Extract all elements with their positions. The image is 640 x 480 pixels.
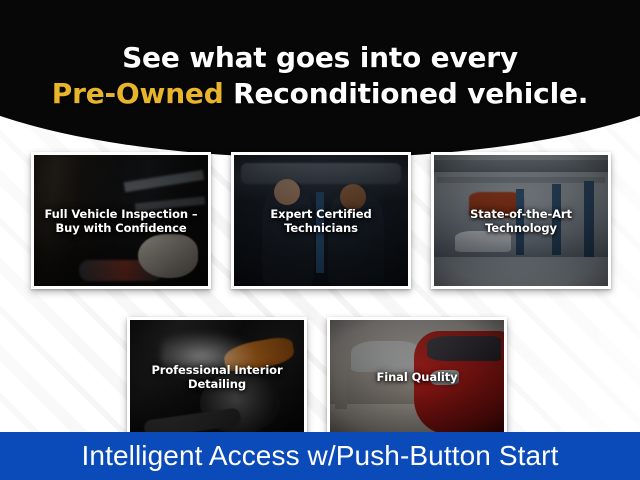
headline-line-2: Pre-Owned Reconditioned vehicle. — [0, 76, 640, 112]
footer-banner: Intelligent Access w/Push-Button Start — [0, 432, 640, 480]
card-photo: State-of-the-Art Technology — [434, 155, 608, 286]
card-caption: Expert Certified Technicians — [234, 207, 408, 235]
headline-highlight: Pre-Owned — [52, 77, 224, 110]
headline-line-1: See what goes into every — [0, 40, 640, 76]
card-photo: Expert Certified Technicians — [234, 155, 408, 286]
feature-card-full-vehicle-inspection[interactable]: Full Vehicle Inspection – Buy with Confi… — [31, 152, 211, 289]
card-photo: Final Quality — [330, 320, 504, 434]
feature-card-state-of-the-art-technology[interactable]: State-of-the-Art Technology — [431, 152, 611, 289]
card-caption: Full Vehicle Inspection – Buy with Confi… — [34, 207, 208, 235]
footer-banner-text: Intelligent Access w/Push-Button Start — [82, 440, 559, 472]
feature-card-final-quality[interactable]: Final Quality — [327, 317, 507, 437]
feature-card-expert-certified-technicians[interactable]: Expert Certified Technicians — [231, 152, 411, 289]
page-title: See what goes into every Pre-Owned Recon… — [0, 40, 640, 112]
card-caption: State-of-the-Art Technology — [434, 207, 608, 235]
card-caption: Professional Interior Detailing — [130, 363, 304, 391]
card-caption-line-1: Expert Certified Technicians — [238, 207, 404, 235]
card-caption-line-1: Full Vehicle Inspection – — [38, 207, 204, 221]
card-caption-line-1: State-of-the-Art Technology — [438, 207, 604, 235]
card-caption: Final Quality — [330, 370, 504, 384]
card-caption-line-1: Final Quality — [334, 370, 500, 384]
feature-card-professional-interior-detailing[interactable]: Professional Interior Detailing — [127, 317, 307, 437]
card-caption-line-1: Professional Interior — [134, 363, 300, 377]
card-caption-line-2: Detailing — [134, 377, 300, 391]
headline-line-2-rest: Reconditioned vehicle. — [224, 77, 589, 110]
card-photo: Full Vehicle Inspection – Buy with Confi… — [34, 155, 208, 286]
card-photo: Professional Interior Detailing — [130, 320, 304, 434]
promo-banner: See what goes into every Pre-Owned Recon… — [0, 0, 640, 480]
card-caption-line-2: Buy with Confidence — [38, 221, 204, 235]
